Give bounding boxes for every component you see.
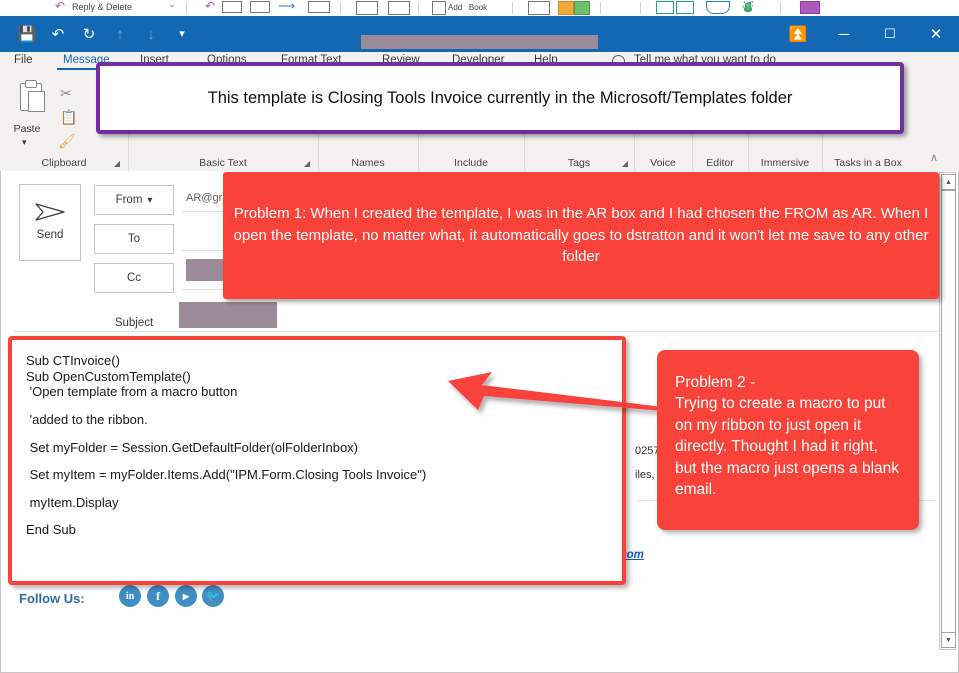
outlook-compose-screenshot: ↶ Reply & Delete ⌄ ↶ ⟶ Add Book ⛇ 💾 ↶ ↻: [0, 0, 959, 673]
people-icon: ⛇: [742, 0, 754, 16]
next-item-icon[interactable]: ↓: [142, 25, 160, 43]
group-label-names: Names: [318, 157, 418, 169]
previous-item-icon[interactable]: ↑: [111, 25, 129, 43]
clipboard-dialog-launcher-icon[interactable]: ◢: [114, 159, 120, 168]
reply-and-delete-label: Reply & Delete: [72, 2, 132, 17]
scrollbar-thumb[interactable]: [941, 190, 956, 633]
redo-icon[interactable]: ↻: [80, 25, 98, 43]
annotation-problem1-callout: Problem 1: When I created the template, …: [223, 172, 939, 299]
tab-file[interactable]: File: [14, 54, 33, 66]
linkedin-icon[interactable]: in: [119, 585, 141, 607]
cc-field-button[interactable]: Cc: [94, 263, 174, 293]
save-icon[interactable]: 💾: [18, 25, 36, 43]
close-button[interactable]: ✕: [913, 16, 959, 52]
reply-all-icon: ↶: [205, 0, 215, 13]
code-line: 'Open template from a macro button: [26, 385, 622, 399]
address-book-label: Add Book: [448, 3, 487, 17]
quick-access-toolbar: 💾 ↶ ↻ ↑ ↓ ▾: [18, 16, 191, 52]
chevron-down-icon[interactable]: ▾: [22, 137, 27, 148]
paste-icon[interactable]: [14, 81, 48, 121]
follow-us-label: Follow Us:: [19, 591, 85, 606]
subject-label: Subject: [94, 317, 174, 329]
tags-dialog-launcher-icon[interactable]: ◢: [622, 159, 628, 168]
send-button[interactable]: Send: [19, 184, 81, 261]
send-arrow-icon: [34, 201, 66, 223]
code-line: Sub CTInvoice(): [26, 354, 622, 368]
chevron-down-icon: ▾: [147, 195, 152, 206]
customize-qat-icon[interactable]: ▾: [173, 25, 191, 43]
forward-icon: ⟶: [278, 0, 295, 13]
minimize-button[interactable]: ─: [821, 16, 867, 52]
twitter-icon[interactable]: 🐦: [202, 585, 224, 607]
annotation-problem2-text: Problem 2 - Trying to create a macro to …: [675, 372, 903, 500]
chevron-down-icon: ⌄: [168, 0, 176, 10]
ribbon-display-options-icon[interactable]: ⏫: [775, 16, 821, 52]
annotation-purple-text: This template is Closing Tools Invoice c…: [208, 89, 793, 108]
scroll-up-button[interactable]: ▲: [941, 174, 956, 190]
code-line: Sub OpenCustomTemplate(): [26, 370, 622, 384]
maximize-button[interactable]: ☐: [867, 16, 913, 52]
undo-icon[interactable]: ↶: [49, 25, 67, 43]
to-label: To: [128, 233, 140, 245]
annotation-purple-callout: This template is Closing Tools Invoice c…: [96, 62, 904, 134]
facebook-icon[interactable]: f: [147, 585, 169, 607]
paste-label[interactable]: Paste: [4, 123, 50, 135]
to-field-button[interactable]: To: [94, 224, 174, 254]
send-label: Send: [20, 229, 80, 241]
body-scrollbar[interactable]: ▲ ▼: [939, 172, 956, 650]
reply-arrow-icon: ↶: [55, 0, 65, 13]
basic-text-dialog-launcher-icon[interactable]: ◢: [304, 159, 310, 168]
copy-icon[interactable]: 📋: [60, 109, 77, 126]
code-line: End Sub: [26, 523, 622, 537]
scroll-down-button[interactable]: ▼: [941, 632, 956, 648]
group-label-tasks-in-a-box: Tasks in a Box: [822, 157, 914, 169]
background-window-ribbon-strip: ↶ Reply & Delete ⌄ ↶ ⟶ Add Book ⛇: [0, 0, 959, 17]
group-label-voice: Voice: [634, 157, 692, 169]
window-title-redacted: [361, 35, 598, 49]
group-label-tags: Tags: [524, 157, 634, 169]
subject-value-redacted[interactable]: [179, 302, 277, 328]
cut-icon[interactable]: ✂: [60, 85, 72, 102]
code-line: Set myItem = myFolder.Items.Add("IPM.For…: [26, 468, 622, 482]
group-label-basic-text: Basic Text: [128, 157, 318, 169]
cc-label: Cc: [127, 272, 141, 284]
from-field-button[interactable]: From ▾: [94, 185, 174, 215]
code-line: 'added to the ribbon.: [26, 413, 622, 427]
format-painter-icon[interactable]: 🖌: [58, 133, 76, 150]
annotation-problem1-text: Problem 1: When I created the template, …: [233, 203, 929, 268]
group-label-editor: Editor: [692, 157, 748, 169]
group-label-immersive: Immersive: [748, 157, 822, 169]
compose-window-titlebar: 💾 ↶ ↻ ↑ ↓ ▾ ⏫ ─ ☐ ✕: [0, 16, 959, 52]
from-value[interactable]: AR@gr: [186, 192, 222, 204]
from-label: From: [116, 194, 143, 206]
youtube-icon[interactable]: ▶: [175, 585, 197, 607]
body-text-fragment: 0257: [635, 445, 659, 457]
code-line: Set myFolder = Session.GetDefaultFolder(…: [26, 441, 622, 455]
group-label-clipboard: Clipboard: [0, 157, 128, 169]
collapse-ribbon-icon[interactable]: ∧: [930, 151, 938, 164]
annotation-problem2-callout: Problem 2 - Trying to create a macro to …: [657, 350, 919, 530]
code-line: myItem.Display: [26, 496, 622, 510]
group-label-include: Include: [418, 157, 524, 169]
annotation-code-box: Sub CTInvoice() Sub OpenCustomTemplate()…: [8, 336, 626, 585]
